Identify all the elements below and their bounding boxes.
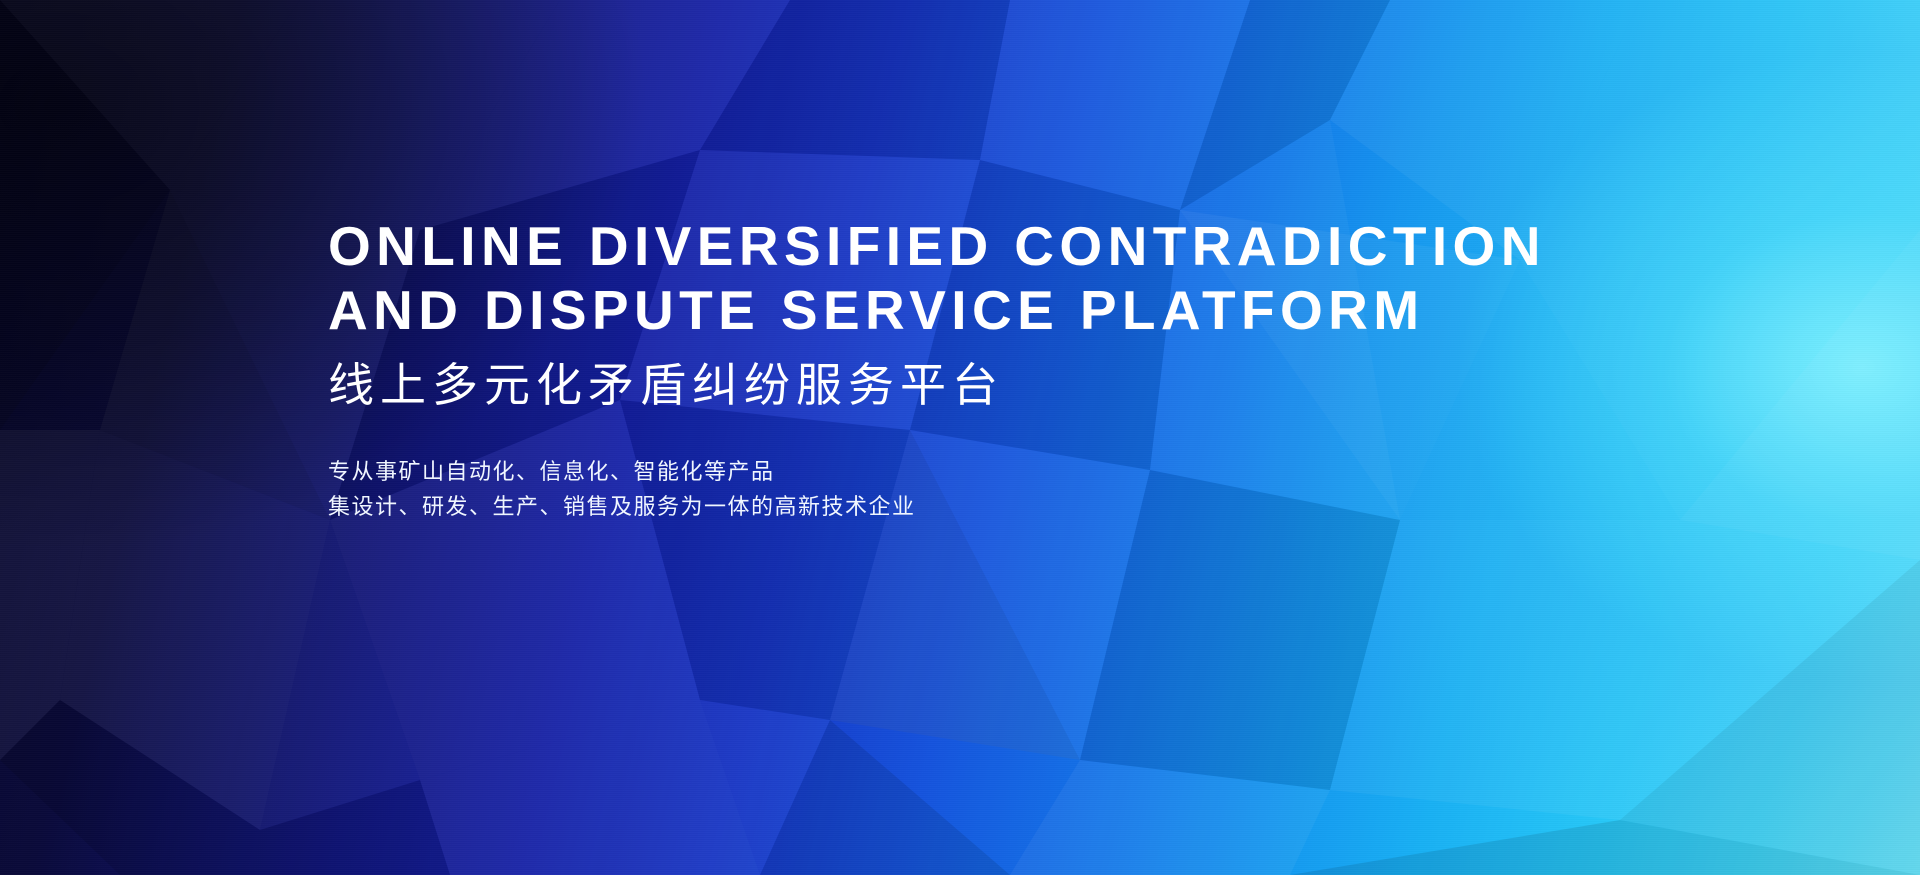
headline-line-2: AND DISPUTE SERVICE PLATFORM [328,278,1728,342]
description-line-2: 集设计、研发、生产、销售及服务为一体的高新技术企业 [328,489,1728,524]
headline-line-1: ONLINE DIVERSIFIED CONTRADICTION [328,214,1728,278]
hero-banner: ONLINE DIVERSIFIED CONTRADICTION AND DIS… [0,0,1920,875]
description-line-1: 专从事矿山自动化、信息化、智能化等产品 [328,454,1728,489]
banner-description: 专从事矿山自动化、信息化、智能化等产品 集设计、研发、生产、销售及服务为一体的高… [328,454,1728,524]
banner-content: ONLINE DIVERSIFIED CONTRADICTION AND DIS… [328,214,1728,524]
banner-subtitle-cn: 线上多元化矛盾纠纷服务平台 [328,356,1728,414]
banner-headline-en: ONLINE DIVERSIFIED CONTRADICTION AND DIS… [328,214,1728,342]
